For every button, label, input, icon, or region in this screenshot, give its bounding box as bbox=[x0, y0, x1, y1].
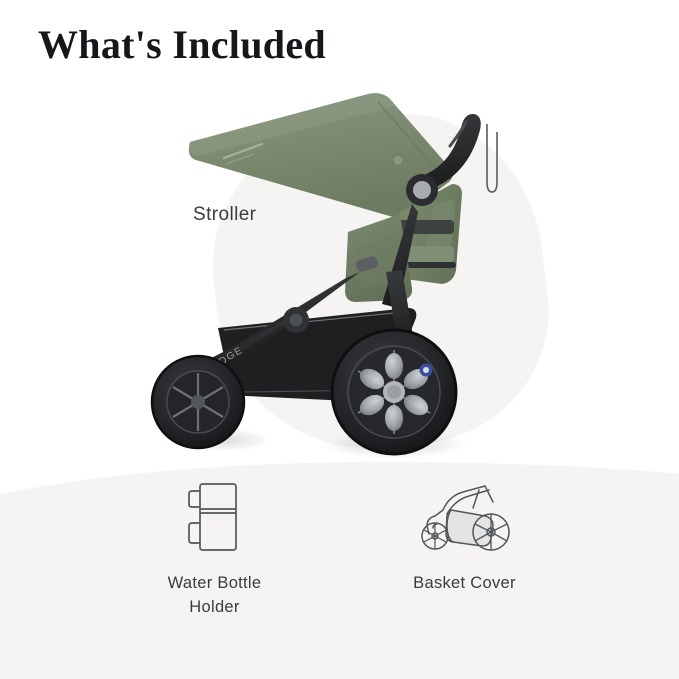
accessory-water-bottle-holder: Water Bottle Holder bbox=[125, 478, 305, 620]
handlebar-hub-icon bbox=[413, 181, 431, 199]
water-bottle-holder-icon bbox=[160, 478, 270, 556]
canopy-snap-icon bbox=[393, 155, 403, 165]
stroller-label: Stroller bbox=[193, 204, 256, 226]
basket-cover-icon bbox=[410, 478, 520, 556]
accessory-label: Water Bottle Holder bbox=[150, 572, 280, 620]
stroller-illustration: RIDGE bbox=[150, 72, 550, 472]
wrist-strap-icon bbox=[487, 124, 497, 192]
page-title: What's Included bbox=[38, 22, 326, 68]
accessory-label: Basket Cover bbox=[413, 572, 516, 596]
accessories-row: Water Bottle Holder bbox=[0, 478, 679, 620]
accessory-basket-cover: Basket Cover bbox=[375, 478, 555, 596]
front-wheel-icon bbox=[152, 356, 244, 448]
rear-wheel-icon bbox=[332, 330, 456, 454]
infographic-page: What's Included bbox=[0, 0, 679, 679]
